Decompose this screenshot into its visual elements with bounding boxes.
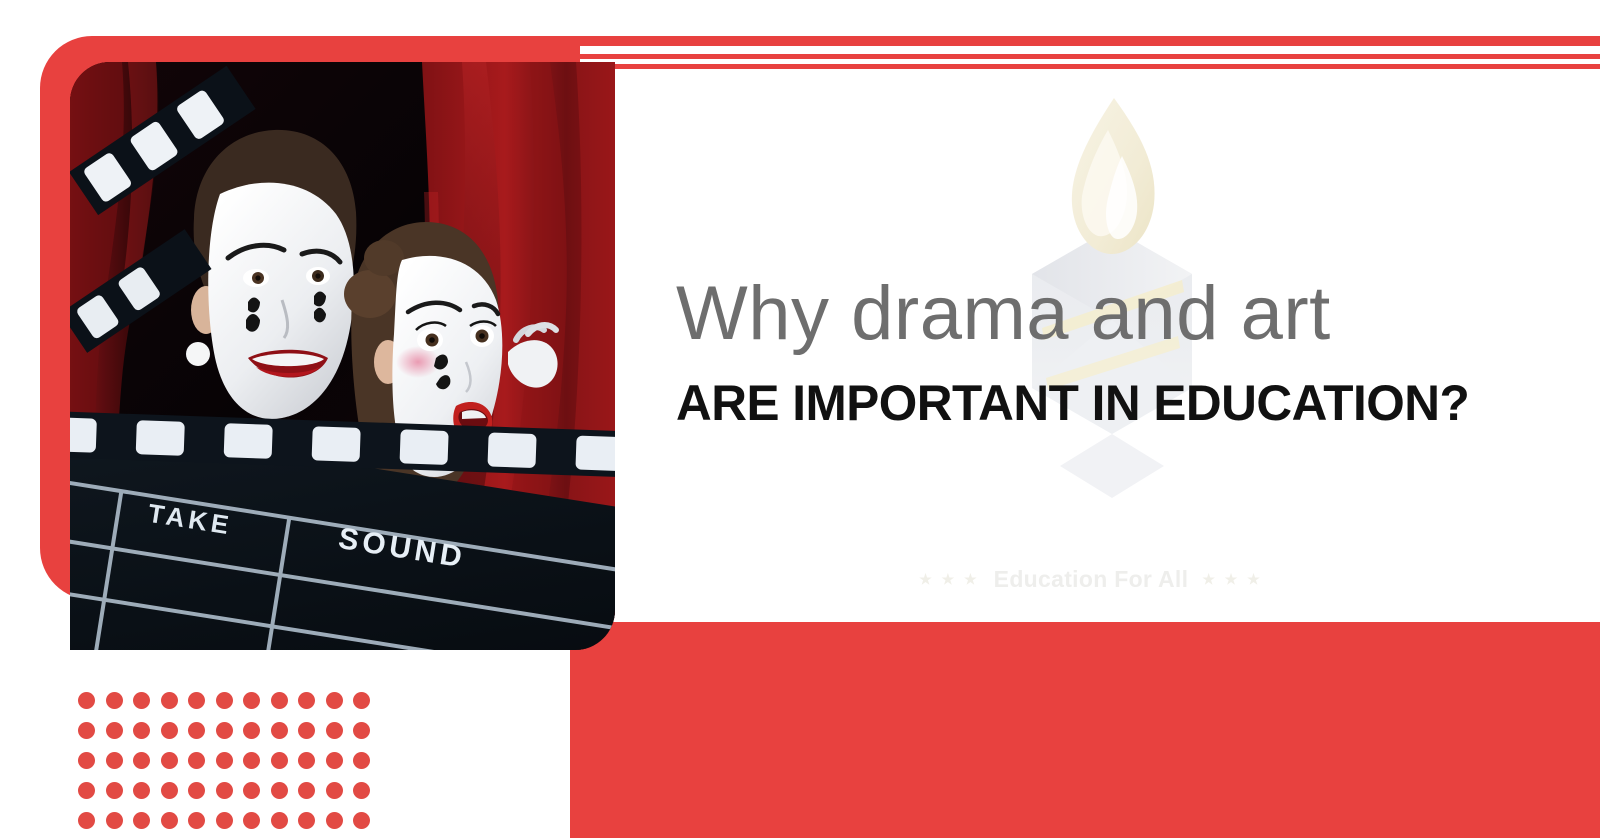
dot (326, 782, 343, 799)
stars-right-icon: ★ ★ ★ (1202, 571, 1262, 588)
dot (243, 692, 260, 709)
dot (271, 752, 288, 769)
dot (353, 752, 370, 769)
hero-photo: TAKE SOUND (70, 62, 615, 650)
dot (216, 722, 233, 739)
top-rule-thin-2 (570, 64, 1600, 69)
dot (271, 722, 288, 739)
dot (161, 782, 178, 799)
dot (106, 752, 123, 769)
dot (161, 812, 178, 829)
dot-grid-decoration (78, 692, 381, 838)
dot (188, 722, 205, 739)
stars-left-icon: ★ ★ ★ (919, 571, 979, 588)
dot (78, 752, 95, 769)
top-rule-thick (540, 36, 1600, 46)
dot (298, 722, 315, 739)
dot (106, 692, 123, 709)
dot (188, 812, 205, 829)
dot (161, 722, 178, 739)
top-rule-thin-1 (570, 54, 1600, 59)
dot (133, 812, 150, 829)
dot (78, 722, 95, 739)
dot (353, 722, 370, 739)
dot (243, 782, 260, 799)
dot (271, 812, 288, 829)
dot (78, 692, 95, 709)
tagline-label: Education For All (994, 566, 1189, 593)
dot (298, 692, 315, 709)
dot (133, 782, 150, 799)
dot (271, 782, 288, 799)
tagline: ★ ★ ★ Education For All ★ ★ ★ (676, 566, 1506, 593)
dot (326, 722, 343, 739)
dot (106, 722, 123, 739)
dot (353, 782, 370, 799)
bottom-red-block (570, 622, 1600, 838)
dot (243, 752, 260, 769)
dot (216, 692, 233, 709)
dot (271, 692, 288, 709)
dot (133, 692, 150, 709)
dot (216, 782, 233, 799)
dot (298, 782, 315, 799)
dot (78, 782, 95, 799)
dot (133, 752, 150, 769)
dot (216, 752, 233, 769)
dot (216, 812, 233, 829)
dot (298, 752, 315, 769)
dot (161, 752, 178, 769)
dot (188, 782, 205, 799)
dot (353, 812, 370, 829)
dot (326, 812, 343, 829)
dot (243, 722, 260, 739)
banner-canvas: TAKE SOUND (0, 0, 1600, 838)
dot (326, 752, 343, 769)
dot (106, 812, 123, 829)
dot (188, 692, 205, 709)
page-title: Why drama and art (676, 272, 1506, 356)
dot (161, 692, 178, 709)
dot (133, 722, 150, 739)
dot (326, 692, 343, 709)
dot (353, 692, 370, 709)
dot (298, 812, 315, 829)
page-subtitle: ARE IMPORTANT IN EDUCATION? (676, 376, 1508, 430)
dot (243, 812, 260, 829)
dot (78, 812, 95, 829)
dot (106, 782, 123, 799)
dot (188, 752, 205, 769)
